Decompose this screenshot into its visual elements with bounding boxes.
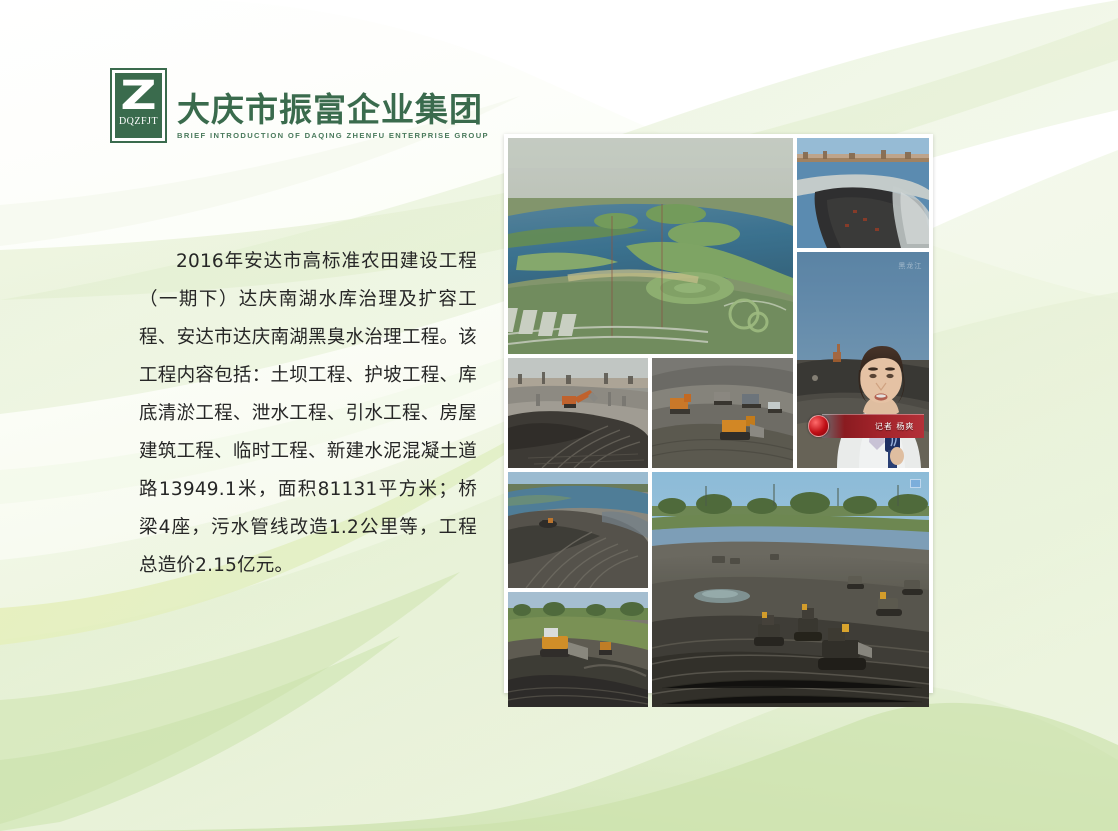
logo-letter-z: Z (120, 77, 156, 115)
photo-tv-reporter-onsite: 黑龙江 记者 杨爽 (797, 252, 929, 468)
tv-red-dot-icon (808, 415, 830, 437)
photo-aerial-dredging-shore (797, 138, 929, 248)
photo-lake-masterplan-render (508, 138, 793, 354)
photo-channel-earthworks (508, 472, 648, 588)
photo-wide-sludge-site (652, 472, 929, 707)
tv-reporter-name-bar: 记者 杨爽 (822, 414, 923, 437)
brand-logo: Z DQZFJT 大庆市振富企业集团 BRIEF INTRODUCTION OF… (110, 68, 489, 143)
logo-mark-icon: Z DQZFJT (110, 68, 167, 143)
photo-excavators-sludge (508, 358, 648, 468)
photo-bulldozer-field (508, 592, 648, 707)
tv-reporter-name: 记者 杨爽 (875, 421, 915, 432)
tv-lower-third: 记者 杨爽 (808, 410, 924, 442)
company-name-en: BRIEF INTRODUCTION OF DAQING ZHENFU ENTE… (177, 130, 489, 141)
photo-collage: 黑龙江 记者 杨爽 (504, 134, 933, 693)
project-description-paragraph: 2016年安达市高标准农田建设工程（一期下）达庆南湖水库治理及扩容工程、安达市达… (139, 243, 477, 585)
video-source-badge-icon (910, 479, 921, 488)
slide-root: Z DQZFJT 大庆市振富企业集团 BRIEF INTRODUCTION OF… (0, 0, 1118, 831)
logo-wordmark: 大庆市振富企业集团 BRIEF INTRODUCTION OF DAQING Z… (177, 92, 489, 143)
photo-trucks-haul-sludge (652, 358, 793, 468)
company-name-cn: 大庆市振富企业集团 (177, 92, 489, 128)
tv-station-watermark: 黑龙江 (898, 261, 922, 271)
